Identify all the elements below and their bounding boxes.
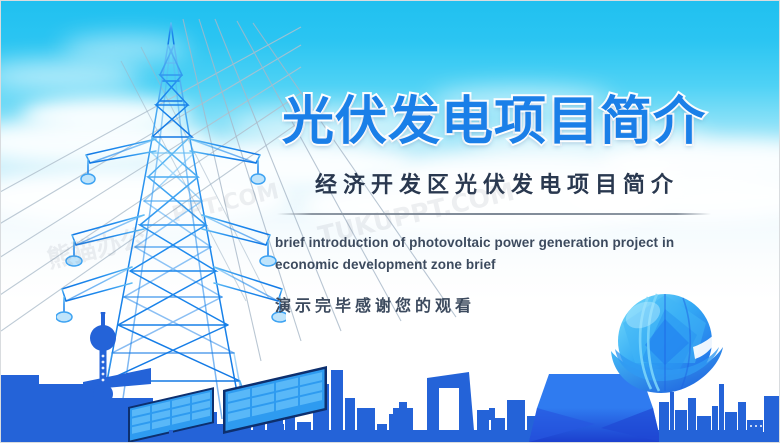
page-subtitle: 经济开发区光伏发电项目简介 [259, 167, 729, 199]
poster-canvas: 光伏发电项目简介 经济开发区光伏发电项目简介 brief introductio… [0, 0, 780, 443]
page-title: 光伏发电项目简介 [259, 93, 729, 151]
english-description: brief introduction of photovoltaic power… [275, 232, 695, 276]
title-divider [277, 213, 711, 215]
title-text-block: 光伏发电项目简介 经济开发区光伏发电项目简介 brief introductio… [259, 93, 729, 316]
skyline-buildings-right [659, 362, 779, 442]
